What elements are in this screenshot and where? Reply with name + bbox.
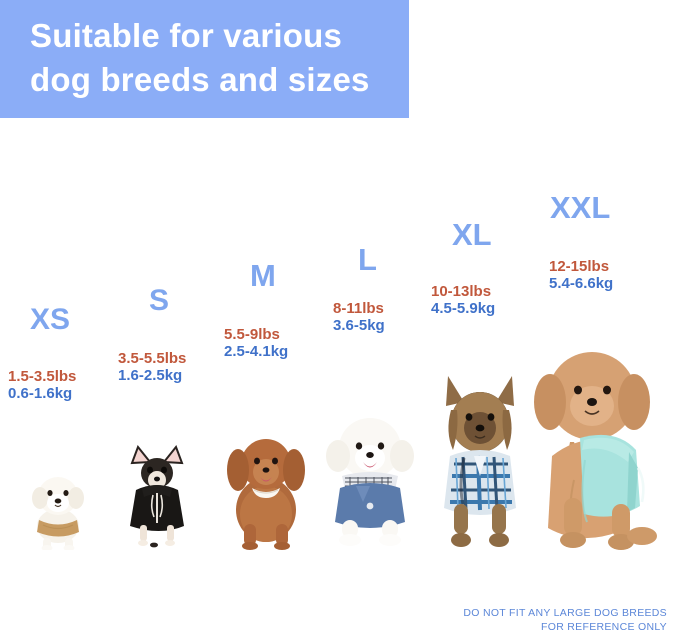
dog-photo-xxl [530, 340, 668, 552]
size-weight-l: 8-11lbs 3.6-5kg [333, 300, 385, 334]
size-weight-xxl: 12-15lbs 5.4-6.6kg [549, 258, 613, 292]
size-chart-stage: Suitable for various dog breeds and size… [0, 0, 679, 642]
size-label-group-xl: XL 10-13lbs 4.5-5.9kg [425, 215, 555, 340]
size-pounds-s: 3.5-5.5lbs [118, 350, 186, 367]
size-weight-s: 3.5-5.5lbs 1.6-2.5kg [118, 350, 186, 384]
size-label-group-xs: XS 1.5-3.5lbs 0.6-1.6kg [0, 300, 120, 420]
dog-photo-xl [430, 372, 530, 550]
size-kilograms-xxl: 5.4-6.6kg [549, 275, 613, 292]
size-weight-xl: 10-13lbs 4.5-5.9kg [431, 283, 495, 317]
size-kilograms-xs: 0.6-1.6kg [8, 385, 76, 402]
header-banner: Suitable for various dog breeds and size… [0, 0, 409, 118]
dog-photo-m [222, 428, 310, 550]
size-label-group-xxl: XXL 12-15lbs 5.4-6.6kg [542, 188, 677, 313]
banner-title-line-2: dog breeds and sizes [30, 58, 409, 102]
size-pounds-xl: 10-13lbs [431, 283, 495, 300]
size-kilograms-s: 1.6-2.5kg [118, 367, 186, 384]
size-kilograms-l: 3.6-5kg [333, 317, 385, 334]
size-letter-s: S [149, 286, 169, 316]
size-letter-m: M [250, 260, 276, 291]
footer-disclaimer: DO NOT FIT ANY LARGE DOG BREEDS FOR REFE… [463, 606, 667, 634]
size-letter-xl: XL [452, 219, 492, 250]
size-letter-l: L [358, 244, 377, 275]
banner-title-line-1: Suitable for various [30, 14, 409, 58]
size-letter-xs: XS [30, 305, 70, 335]
size-letter-xxl: XXL [550, 192, 610, 223]
footer-line-1: DO NOT FIT ANY LARGE DOG BREEDS [463, 606, 667, 620]
size-kilograms-xl: 4.5-5.9kg [431, 300, 495, 317]
size-pounds-l: 8-11lbs [333, 300, 385, 317]
size-kilograms-m: 2.5-4.1kg [224, 343, 288, 360]
size-pounds-xxl: 12-15lbs [549, 258, 613, 275]
dog-photo-l [318, 410, 423, 550]
size-label-group-s: S 3.5-5.5lbs 1.6-2.5kg [110, 282, 235, 402]
size-pounds-xs: 1.5-3.5lbs [8, 368, 76, 385]
size-weight-m: 5.5-9lbs 2.5-4.1kg [224, 326, 288, 360]
size-weight-xs: 1.5-3.5lbs 0.6-1.6kg [8, 368, 76, 402]
dog-photo-xs [22, 470, 94, 550]
size-pounds-m: 5.5-9lbs [224, 326, 288, 343]
dog-photo-s [118, 445, 196, 550]
footer-line-2: FOR REFERENCE ONLY [463, 620, 667, 634]
